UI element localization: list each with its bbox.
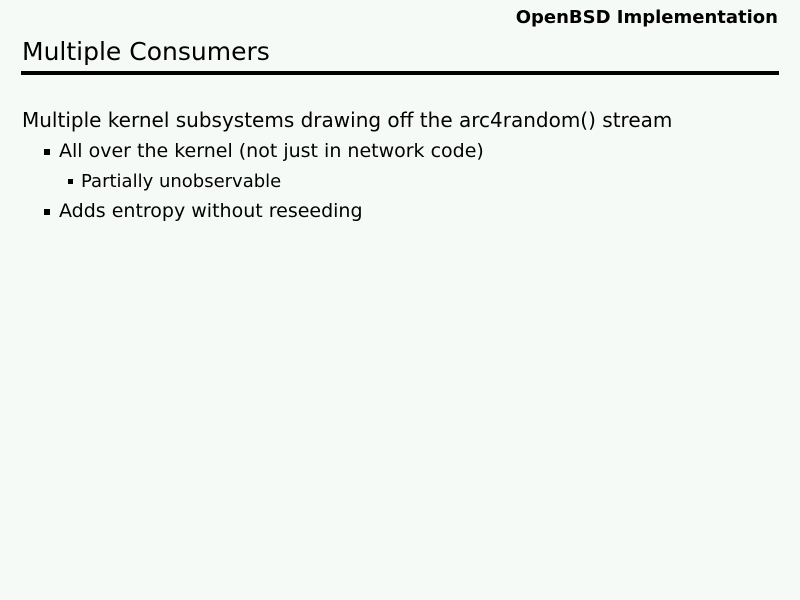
list-item-label: Partially unobservable — [81, 170, 281, 193]
list-item-label: Adds entropy without reseeding — [59, 199, 363, 224]
list-item: Adds entropy without reseeding — [0, 199, 800, 224]
list-item: Multiple kernel subsystems drawing off t… — [0, 108, 800, 133]
title-divider — [21, 71, 779, 75]
presentation-slide: OpenBSD Implementation Multiple Consumer… — [0, 0, 800, 600]
list-item-label: All over the kernel (not just in network… — [59, 139, 484, 164]
list-item: Partially unobservable — [0, 170, 800, 193]
square-bullet-icon — [44, 149, 50, 155]
list-item-label: Multiple kernel subsystems drawing off t… — [22, 108, 672, 133]
page-title: Multiple Consumers — [22, 36, 270, 68]
square-bullet-icon — [68, 179, 73, 184]
list-item: All over the kernel (not just in network… — [0, 139, 800, 164]
square-bullet-icon — [44, 209, 50, 215]
slide-header-label: OpenBSD Implementation — [22, 6, 778, 30]
slide-body: Multiple kernel subsystems drawing off t… — [0, 108, 800, 230]
